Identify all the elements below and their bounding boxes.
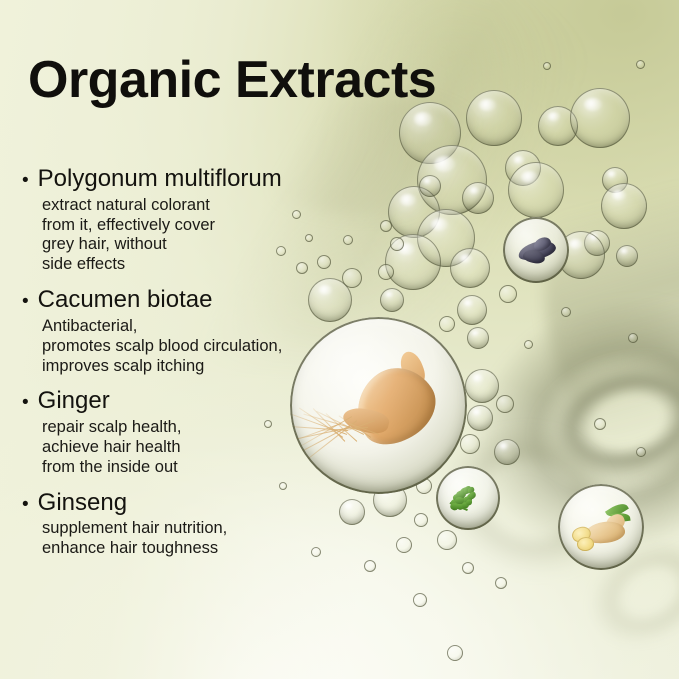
extract-list: •Polygonum multiflorumextract natural co… bbox=[22, 166, 352, 559]
extract-item: •Polygonum multiflorumextract natural co… bbox=[22, 166, 352, 275]
bullet-icon: • bbox=[22, 292, 29, 311]
extract-name: Cacumen biotae bbox=[38, 287, 213, 314]
extract-description: supplement hair nutrition, enhance hair … bbox=[42, 519, 352, 559]
organic-extracts-poster: Organic Extracts •Polygonum multiflorume… bbox=[0, 0, 679, 679]
extract-item: •Gingerrepair scalp health, achieve hair… bbox=[22, 388, 352, 477]
bullet-icon: • bbox=[22, 171, 29, 190]
extract-description: Antibacterial, promotes scalp blood circ… bbox=[42, 317, 352, 376]
extract-item: •Cacumen biotaeAntibacterial, promotes s… bbox=[22, 287, 352, 376]
extract-heading: •Polygonum multiflorum bbox=[22, 166, 352, 193]
page-title: Organic Extracts bbox=[28, 52, 436, 108]
extract-heading: •Ginseng bbox=[22, 490, 352, 517]
extract-heading: •Ginger bbox=[22, 388, 352, 415]
extract-description: extract natural colorant from it, effect… bbox=[42, 196, 352, 275]
poster-content: Organic Extracts •Polygonum multiflorume… bbox=[0, 0, 679, 679]
extract-name: Ginseng bbox=[38, 490, 127, 517]
extract-name: Polygonum multiflorum bbox=[38, 166, 282, 193]
extract-description: repair scalp health, achieve hair health… bbox=[42, 418, 352, 477]
extract-item: •Ginsengsupplement hair nutrition, enhan… bbox=[22, 490, 352, 559]
bullet-icon: • bbox=[22, 393, 29, 412]
extract-heading: •Cacumen biotae bbox=[22, 287, 352, 314]
extract-name: Ginger bbox=[38, 388, 110, 415]
bullet-icon: • bbox=[22, 495, 29, 514]
